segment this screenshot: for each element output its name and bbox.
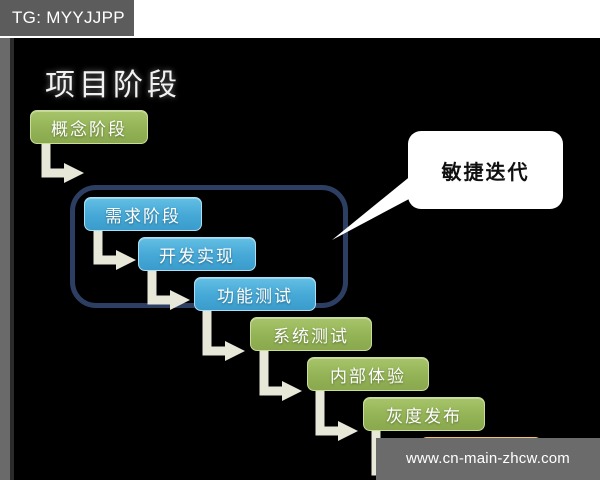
flow-node-label: 系统测试 xyxy=(273,322,349,347)
flow-node-label: 需求阶段 xyxy=(105,202,181,227)
flow-node-gray-release[interactable]: 灰度发布 xyxy=(363,397,485,431)
flow-node-development[interactable]: 开发实现 xyxy=(138,237,256,271)
connector-1 xyxy=(46,144,68,173)
connector-4 xyxy=(207,311,229,351)
tg-watermark: TG: MYYJJPP xyxy=(0,0,134,36)
callout-bubble: 敏捷迭代 xyxy=(408,131,563,209)
flow-node-label: 开发实现 xyxy=(159,242,235,267)
flow-node-function-test[interactable]: 功能测试 xyxy=(194,277,316,311)
arrowhead-1 xyxy=(64,163,84,183)
flow-node-requirements[interactable]: 需求阶段 xyxy=(84,197,202,231)
connector-6 xyxy=(320,391,342,431)
site-watermark: www.cn-main-zhcw.com xyxy=(376,438,600,480)
flow-node-label: 内部体验 xyxy=(330,362,406,387)
slide-inner-edge xyxy=(10,38,14,480)
presentation-slide: 项目阶段 xyxy=(0,38,600,480)
slide-left-border xyxy=(0,38,10,480)
arrowhead-6 xyxy=(338,421,358,441)
flow-node-label: 概念阶段 xyxy=(51,115,127,140)
slide-page: TG: MYYJJPP 项目阶段 xyxy=(0,0,600,480)
flow-node-system-test[interactable]: 系统测试 xyxy=(250,317,372,351)
flow-node-concept[interactable]: 概念阶段 xyxy=(30,110,148,144)
page-title: 项目阶段 xyxy=(45,60,181,104)
flow-node-label: 灰度发布 xyxy=(386,402,462,427)
flow-node-label: 功能测试 xyxy=(217,282,293,307)
arrowhead-4 xyxy=(225,341,245,361)
arrowhead-5 xyxy=(282,381,302,401)
connector-5 xyxy=(264,351,286,391)
flow-node-internal-trial[interactable]: 内部体验 xyxy=(307,357,429,391)
callout-label: 敏捷迭代 xyxy=(442,156,530,185)
